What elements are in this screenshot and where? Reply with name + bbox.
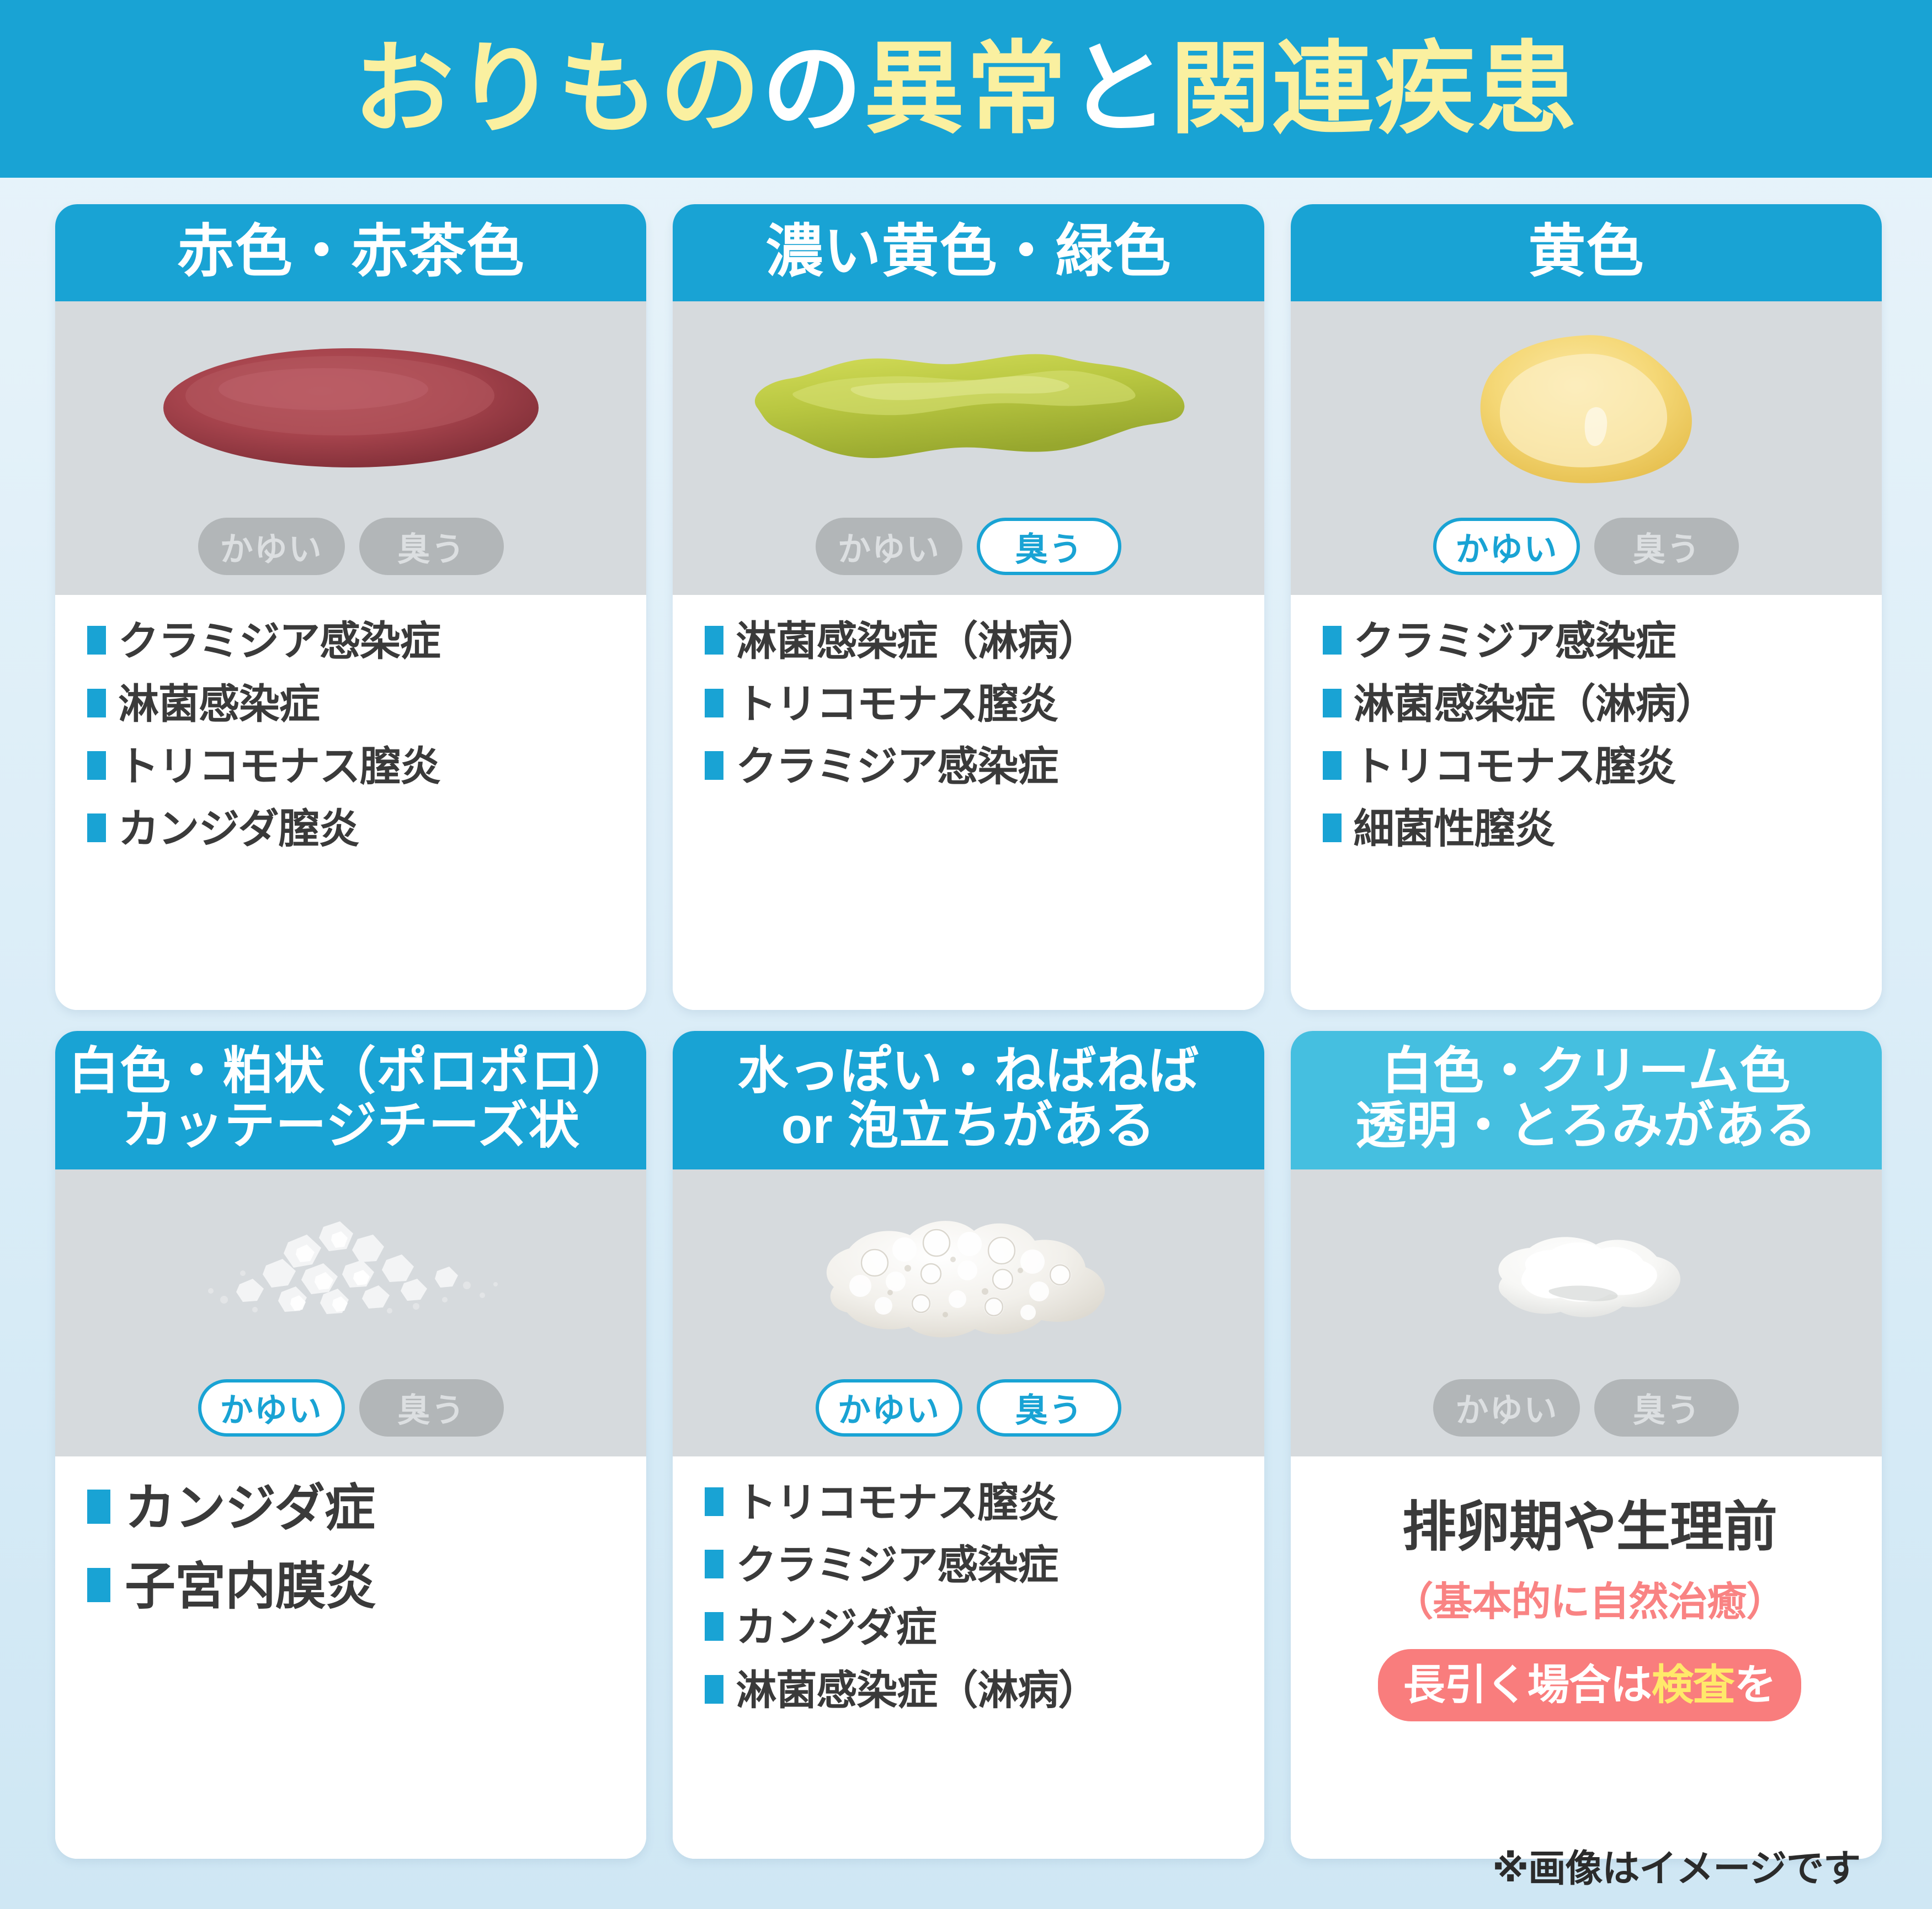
- foamy-white-blob: [673, 1185, 1264, 1367]
- square-bullet-icon: [87, 813, 106, 842]
- symptom-badges-yellow: かゆい 臭う: [1291, 518, 1882, 575]
- square-bullet-icon: [705, 689, 723, 717]
- square-bullet-icon: [705, 1675, 723, 1704]
- disease-list-red: クラミジア感染症 淋菌感染症 トリコモナス膣炎 カンジダ膣炎: [87, 617, 621, 853]
- discharge-card-crumbly: 白色・粕状（ポロポロ） カッテージチーズ状: [55, 1031, 646, 1859]
- card-header-line-2: 透明・とろみがある: [1296, 1099, 1876, 1153]
- square-bullet-icon: [1323, 813, 1342, 842]
- badge-itchy[interactable]: かゆい: [198, 518, 345, 575]
- disease-label: 子宮内膜炎: [125, 1557, 376, 1617]
- badge-smell[interactable]: 臭う: [359, 1379, 504, 1437]
- title-segment-to: と: [1068, 33, 1170, 145]
- square-bullet-icon: [1323, 626, 1342, 655]
- green-discharge-blob: [673, 317, 1264, 499]
- disease-label: クラミジア感染症: [118, 617, 440, 665]
- symptom-badges-crumbly: かゆい 臭う: [55, 1379, 646, 1437]
- image-disclaimer-note: ※画像はイメージです: [1492, 1838, 1860, 1892]
- list-item: トリコモナス膣炎: [705, 1479, 1238, 1527]
- disease-label: 淋菌感染症: [118, 680, 320, 728]
- list-item: カンジダ膣炎: [87, 805, 621, 853]
- card-header-line: 黄色: [1298, 221, 1874, 283]
- disease-label: トリコモナス膣炎: [1354, 742, 1676, 790]
- square-bullet-icon: [705, 751, 723, 780]
- card-header-green: 濃い黄色・緑色: [673, 204, 1264, 301]
- title-segment-3: 関連疾患: [1170, 33, 1579, 145]
- card-media-red: かゆい 臭う: [55, 301, 646, 595]
- cta-highlight: 検査: [1652, 1662, 1734, 1709]
- normal-timing-text: 排卵期や生理前: [1402, 1483, 1777, 1561]
- disease-list-crumbly: カンジダ症 子宮内膜炎: [87, 1479, 621, 1617]
- list-item: 淋菌感染症（淋病）: [1323, 680, 1856, 728]
- disease-label: 細菌性膣炎: [1354, 805, 1555, 853]
- list-item: クラミジア感染症: [705, 1541, 1238, 1589]
- symptom-badges-foamy: かゆい 臭う: [673, 1379, 1264, 1437]
- discharge-card-normal: 白色・クリーム色 透明・とろみがある: [1291, 1031, 1882, 1859]
- list-item: クラミジア感染症: [87, 617, 621, 665]
- list-item: クラミジア感染症: [705, 742, 1238, 790]
- card-header-line-2: or 泡立ちがある: [678, 1099, 1258, 1153]
- card-header-foamy: 水っぽい・ねばねば or 泡立ちがある: [673, 1031, 1264, 1169]
- page-title: おりものの異常と関連疾患: [354, 39, 1579, 139]
- square-bullet-icon: [87, 626, 106, 655]
- creamy-white-blob: [1291, 1185, 1882, 1367]
- badge-smell[interactable]: 臭う: [977, 518, 1121, 575]
- square-bullet-icon: [1323, 751, 1342, 780]
- card-media-crumbly: かゆい 臭う: [55, 1169, 646, 1456]
- list-item: 淋菌感染症（淋病）: [705, 1666, 1238, 1714]
- card-body-normal: 排卵期や生理前 （基本的に自然治癒） 長引く場合は検査を: [1291, 1456, 1882, 1859]
- card-header-crumbly: 白色・粕状（ポロポロ） カッテージチーズ状: [55, 1031, 646, 1169]
- disease-label: トリコモナス膣炎: [118, 742, 440, 790]
- symptom-badges-red: かゆい 臭う: [55, 518, 646, 575]
- card-header-yellow: 黄色: [1291, 204, 1882, 301]
- normal-selfheal-note: （基本的に自然治癒）: [1393, 1569, 1785, 1627]
- square-bullet-icon: [87, 689, 106, 717]
- list-item: 子宮内膜炎: [87, 1557, 621, 1617]
- discharge-card-foamy: 水っぽい・ねばねば or 泡立ちがある: [673, 1031, 1264, 1859]
- square-bullet-icon: [705, 1487, 723, 1516]
- symptom-badges-green: かゆい 臭う: [673, 518, 1264, 575]
- disease-label: クラミジア感染症: [1354, 617, 1676, 665]
- card-header-line-1: 白色・クリーム色: [1296, 1044, 1876, 1099]
- list-item: 淋菌感染症（淋病）: [705, 617, 1238, 665]
- card-header-normal: 白色・クリーム色 透明・とろみがある: [1291, 1031, 1882, 1169]
- card-media-foamy: かゆい 臭う: [673, 1169, 1264, 1456]
- page-title-bar: おりものの異常と関連疾患: [0, 0, 1932, 178]
- card-body-yellow: クラミジア感染症 淋菌感染症（淋病） トリコモナス膣炎 細菌性膣炎: [1291, 595, 1882, 1010]
- square-bullet-icon: [705, 626, 723, 655]
- disease-label: カンジダ症: [736, 1603, 936, 1651]
- list-item: トリコモナス膣炎: [1323, 742, 1856, 790]
- square-bullet-icon: [87, 1568, 110, 1602]
- disease-label: カンジダ症: [125, 1479, 375, 1539]
- title-segment-1: おりもの: [354, 33, 762, 145]
- cta-prefix: 長引く場合は: [1403, 1662, 1652, 1709]
- card-body-foamy: トリコモナス膣炎 クラミジア感染症 カンジダ症 淋菌感染症（淋病）: [673, 1456, 1264, 1859]
- disease-label: 淋菌感染症（淋病）: [736, 1666, 1098, 1714]
- card-media-green: かゆい 臭う: [673, 301, 1264, 595]
- disease-list-yellow: クラミジア感染症 淋菌感染症（淋病） トリコモナス膣炎 細菌性膣炎: [1323, 617, 1856, 853]
- card-header-line-2: カッテージチーズ状: [61, 1099, 641, 1153]
- card-body-red: クラミジア感染症 淋菌感染症 トリコモナス膣炎 カンジダ膣炎: [55, 595, 646, 1010]
- card-header-red: 赤色・赤茶色: [55, 204, 646, 301]
- cta-suffix: を: [1734, 1662, 1776, 1709]
- square-bullet-icon: [87, 1490, 110, 1524]
- badge-smell[interactable]: 臭う: [1594, 518, 1739, 575]
- yellow-discharge-blob: [1291, 317, 1882, 499]
- square-bullet-icon: [705, 1612, 723, 1641]
- disease-list-foamy: トリコモナス膣炎 クラミジア感染症 カンジダ症 淋菌感染症（淋病）: [705, 1479, 1238, 1714]
- discharge-card-green: 濃い黄色・緑色 かゆい: [673, 204, 1264, 1010]
- disease-label: トリコモナス膣炎: [736, 1479, 1058, 1527]
- card-media-yellow: かゆい 臭う: [1291, 301, 1882, 595]
- disease-label: クラミジア感染症: [736, 1541, 1058, 1589]
- list-item: トリコモナス膣炎: [87, 742, 621, 790]
- card-body-green: 淋菌感染症（淋病） トリコモナス膣炎 クラミジア感染症: [673, 595, 1264, 1010]
- list-item: カンジダ症: [705, 1603, 1238, 1651]
- card-header-line: 濃い黄色・緑色: [680, 221, 1256, 283]
- square-bullet-icon: [705, 1550, 723, 1578]
- badge-itchy[interactable]: かゆい: [1433, 518, 1580, 575]
- list-item: クラミジア感染症: [1323, 617, 1856, 665]
- card-media-normal: かゆい 臭う: [1291, 1169, 1882, 1456]
- title-segment-no: の: [762, 33, 864, 145]
- card-header-line-1: 水っぽい・ねばねば: [678, 1044, 1258, 1099]
- badge-itchy[interactable]: かゆい: [816, 1379, 962, 1437]
- discharge-card-grid: 赤色・赤茶色 かゆい: [55, 204, 1882, 1859]
- list-item: カンジダ症: [87, 1479, 621, 1539]
- disease-label: カンジダ膣炎: [118, 805, 359, 853]
- card-header-line-1: 白色・粕状（ポロポロ）: [61, 1044, 641, 1099]
- square-bullet-icon: [87, 751, 106, 780]
- badge-itchy[interactable]: かゆい: [1433, 1379, 1580, 1437]
- card-header-line: 赤色・赤茶色: [63, 221, 638, 283]
- disease-label: 淋菌感染症（淋病）: [1354, 680, 1716, 728]
- checkup-cta-button[interactable]: 長引く場合は検査を: [1378, 1649, 1801, 1721]
- card-body-crumbly: カンジダ症 子宮内膜炎: [55, 1456, 646, 1859]
- title-segment-2: 異常: [864, 33, 1068, 145]
- symptom-badges-normal: かゆい 臭う: [1291, 1379, 1882, 1437]
- discharge-card-yellow: 黄色 かゆい 臭う: [1291, 204, 1882, 1010]
- discharge-card-red: 赤色・赤茶色 かゆい: [55, 204, 646, 1010]
- badge-smell[interactable]: 臭う: [977, 1379, 1121, 1437]
- disease-label: トリコモナス膣炎: [736, 680, 1058, 728]
- list-item: 細菌性膣炎: [1323, 805, 1856, 853]
- disease-label: 淋菌感染症（淋病）: [736, 617, 1098, 665]
- disease-label: クラミジア感染症: [736, 742, 1058, 790]
- list-item: 淋菌感染症: [87, 680, 621, 728]
- badge-itchy[interactable]: かゆい: [816, 518, 962, 575]
- badge-smell[interactable]: 臭う: [1594, 1379, 1739, 1437]
- disease-list-green: 淋菌感染症（淋病） トリコモナス膣炎 クラミジア感染症: [705, 617, 1238, 790]
- list-item: トリコモナス膣炎: [705, 680, 1238, 728]
- badge-itchy[interactable]: かゆい: [198, 1379, 345, 1437]
- square-bullet-icon: [1323, 689, 1342, 717]
- badge-smell[interactable]: 臭う: [359, 518, 504, 575]
- red-discharge-blob: [55, 317, 646, 499]
- crumbly-white-blob: [55, 1185, 646, 1367]
